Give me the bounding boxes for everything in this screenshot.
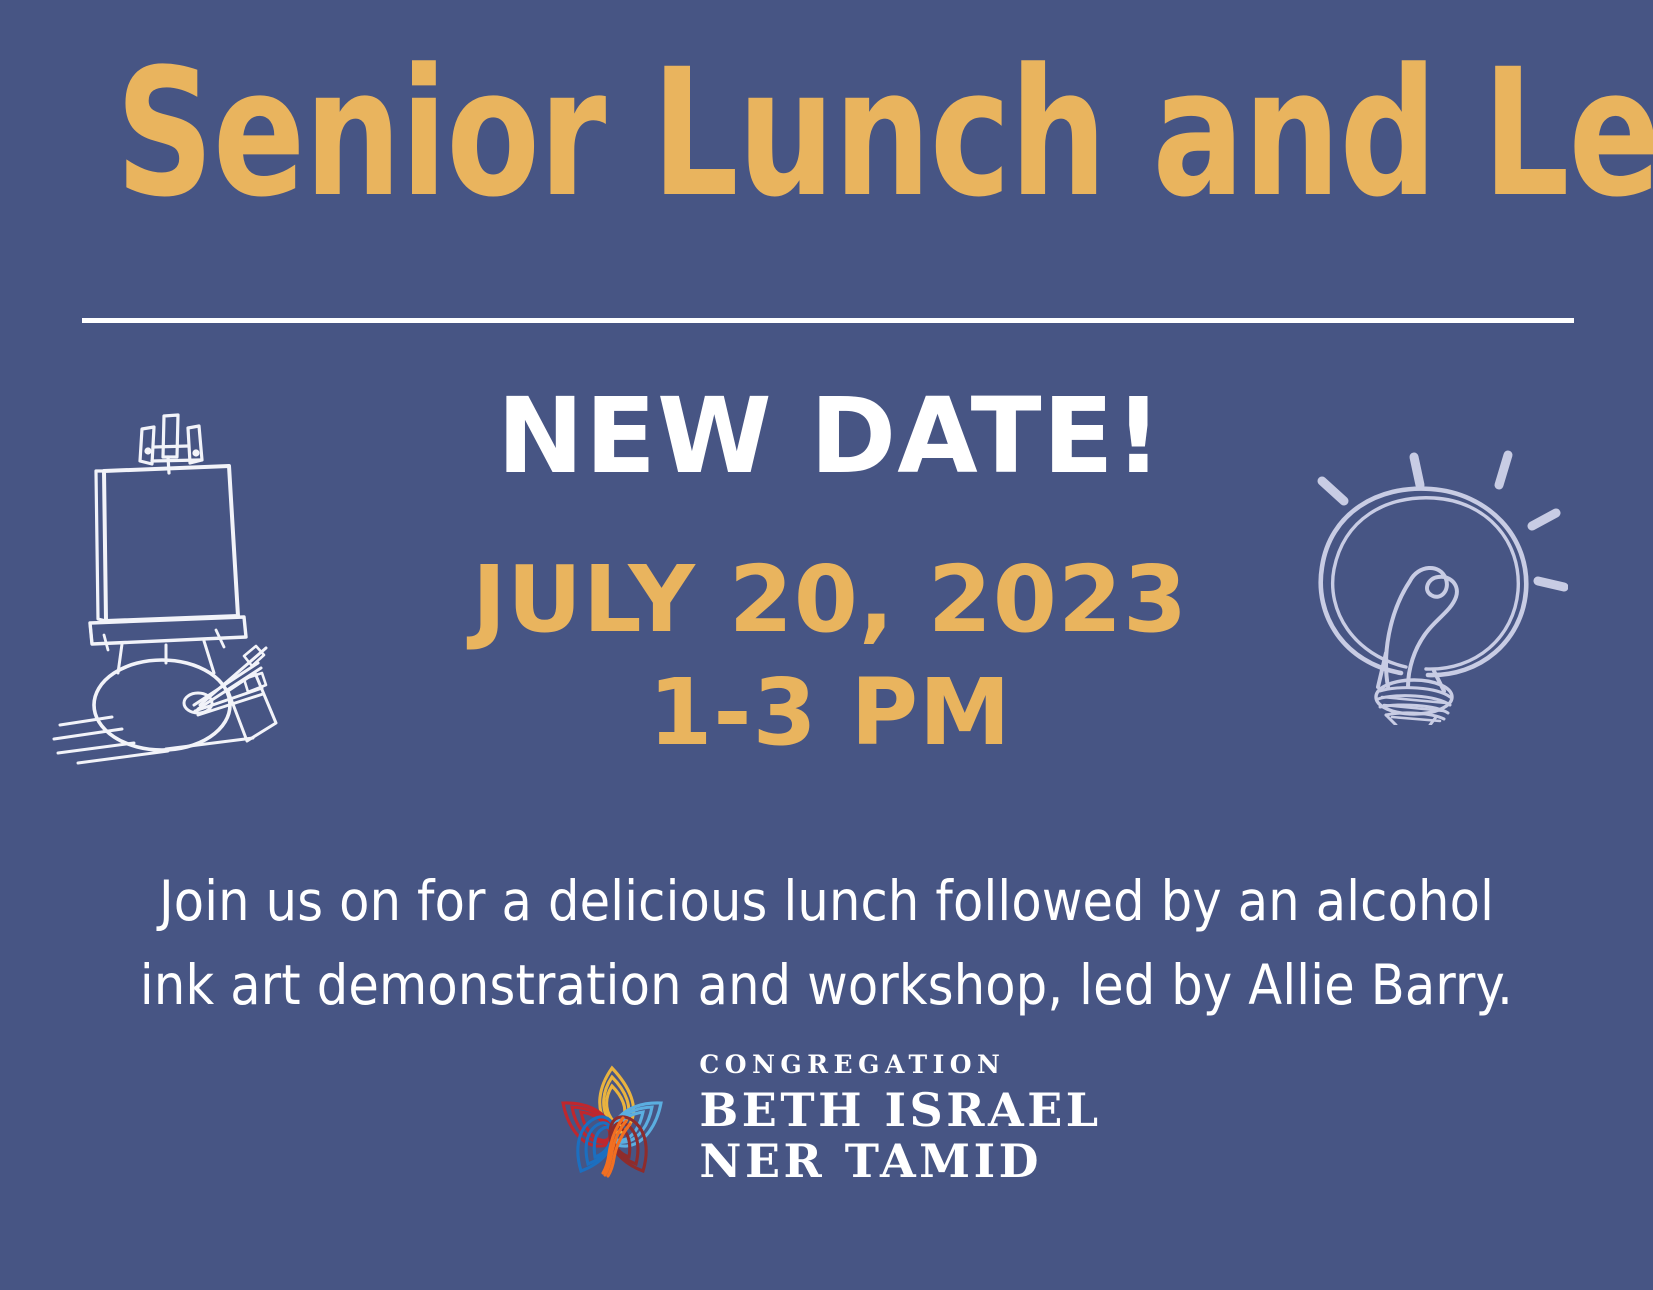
flower-mark-icon xyxy=(551,1058,673,1180)
event-description: Join us on for a delicious lunch followe… xyxy=(70,860,1583,1027)
logo-line-ner-tamid: NER TAMID xyxy=(699,1138,1101,1184)
announcement-block: NEW DATE! JULY 20, 2023 1-3 PM xyxy=(330,380,1330,769)
logo-line-beth-israel: BETH ISRAEL xyxy=(699,1087,1101,1133)
horizontal-divider xyxy=(82,318,1574,323)
flyer-canvas: Senior Lunch and Learn xyxy=(0,0,1653,1290)
organization-logo: CONGREGATION BETH ISRAEL NER TAMID xyxy=(0,1048,1653,1189)
page-title: Senior Lunch and Learn xyxy=(116,46,1538,222)
easel-icon xyxy=(48,405,318,770)
description-line-2: ink art demonstration and workshop, led … xyxy=(70,944,1583,1028)
logo-wordmark: CONGREGATION BETH ISRAEL NER TAMID xyxy=(699,1048,1101,1189)
new-date-headline: NEW DATE! xyxy=(330,380,1330,492)
description-line-1: Join us on for a delicious lunch followe… xyxy=(70,860,1583,944)
event-time: 1-3 PM xyxy=(330,657,1330,769)
event-date: JULY 20, 2023 xyxy=(330,544,1330,656)
logo-line-congregation: CONGREGATION xyxy=(699,1052,1101,1077)
